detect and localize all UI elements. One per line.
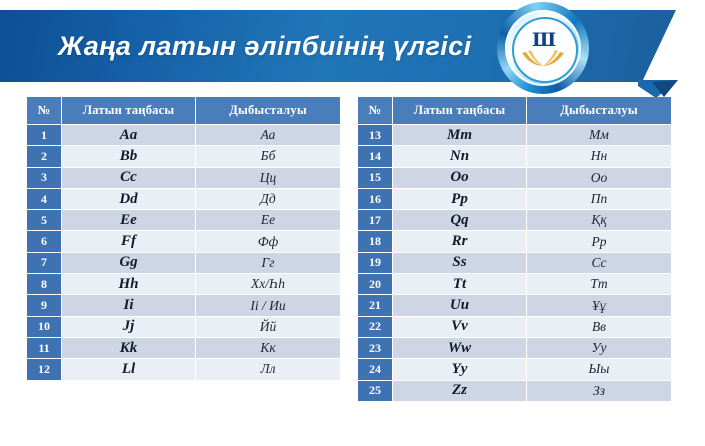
column-header-number: № [358,97,392,124]
cell-cyrillic-sound: Цц [196,168,340,188]
cell-number: 21 [358,295,392,315]
cell-cyrillic-sound: Мм [527,125,671,145]
cell-latin-letter: Bb [62,146,195,166]
cell-number: 24 [358,359,392,379]
right-table-body: 13MmМм14NnНн15OoОо16PpПп17QqҚқ18RrРр19Ss… [358,125,671,401]
alphabet-table-left: № Латын таңбасы Дыбысталуы 1AaАа2BbБб3Cc… [26,96,341,381]
cell-number: 13 [358,125,392,145]
cell-cyrillic-sound: Зз [527,381,671,401]
table-row: 1AaАа [27,125,340,145]
cell-cyrillic-sound: Ее [196,210,340,230]
cell-number: 16 [358,189,392,209]
cell-number: 6 [27,231,61,251]
table-row: 25ZzЗз [358,381,671,401]
cell-latin-letter: Jj [62,317,195,337]
table-row: 8HhХх/Һһ [27,274,340,294]
cell-latin-letter: Qq [393,210,526,230]
cell-number: 22 [358,317,392,337]
cell-latin-letter: Pp [393,189,526,209]
cell-latin-letter: Ww [393,338,526,358]
table-row: 16PpПп [358,189,671,209]
table-row: 5EeЕе [27,210,340,230]
column-header-sound: Дыбысталуы [196,97,340,124]
cell-latin-letter: Uu [393,295,526,315]
table-row: 17QqҚқ [358,210,671,230]
cell-cyrillic-sound: Хх/Һһ [196,274,340,294]
table-row: 23WwУу [358,338,671,358]
table-row: 13MmМм [358,125,671,145]
table-row: 24YyЫы [358,359,671,379]
table-row: 3CcЦц [27,168,340,188]
cell-number: 3 [27,168,61,188]
institute-logo: Ш [497,2,589,94]
table-row: 20TtТт [358,274,671,294]
cell-cyrillic-sound: Ұұ [527,295,671,315]
cell-number: 23 [358,338,392,358]
cell-number: 19 [358,253,392,273]
cell-latin-letter: Rr [393,231,526,251]
cell-cyrillic-sound: Фф [196,231,340,251]
cell-latin-letter: Mm [393,125,526,145]
cell-number: 1 [27,125,61,145]
cell-latin-letter: Ee [62,210,195,230]
cell-cyrillic-sound: Вв [527,317,671,337]
table-row: 18RrРр [358,231,671,251]
cell-cyrillic-sound: Ыы [527,359,671,379]
cell-cyrillic-sound: Сс [527,253,671,273]
cell-cyrillic-sound: Пп [527,189,671,209]
table-row: 11KkКк [27,338,340,358]
alphabet-table-right: № Латын таңбасы Дыбысталуы 13MmМм14NnНн1… [357,96,672,402]
cell-cyrillic-sound: Оо [527,168,671,188]
cell-latin-letter: Aa [62,125,195,145]
cell-number: 11 [27,338,61,358]
cell-latin-letter: Ss [393,253,526,273]
cell-latin-letter: Ll [62,359,195,379]
cell-cyrillic-sound: Кк [196,338,340,358]
cell-number: 8 [27,274,61,294]
alphabet-tables: № Латын таңбасы Дыбысталуы 1AaАа2BbБб3Cc… [0,96,705,446]
cell-cyrillic-sound: Дд [196,189,340,209]
table-header-row: № Латын таңбасы Дыбысталуы [358,97,671,124]
table-row: 4DdДд [27,189,340,209]
cell-cyrillic-sound: Йй [196,317,340,337]
title-banner: Жаңа латын әліпбиінің үлгісі Ш [0,0,705,96]
cell-number: 10 [27,317,61,337]
cell-latin-letter: Zz [393,381,526,401]
cell-number: 2 [27,146,61,166]
cell-number: 25 [358,381,392,401]
table-row: 21UuҰұ [358,295,671,315]
cell-number: 14 [358,146,392,166]
cell-latin-letter: Kk [62,338,195,358]
cell-cyrillic-sound: Рр [527,231,671,251]
page-title: Жаңа латын әліпбиінің үлгісі [58,22,488,70]
table-row: 10JjЙй [27,317,340,337]
cell-number: 9 [27,295,61,315]
table-row: 14NnНн [358,146,671,166]
cell-number: 17 [358,210,392,230]
table-row: 9IiІі / Ии [27,295,340,315]
cell-cyrillic-sound: Лл [196,359,340,379]
cell-latin-letter: Ii [62,295,195,315]
cell-number: 7 [27,253,61,273]
cell-number: 15 [358,168,392,188]
column-header-sound: Дыбысталуы [527,97,671,124]
cell-latin-letter: Nn [393,146,526,166]
cell-number: 5 [27,210,61,230]
cell-latin-letter: Yy [393,359,526,379]
column-header-latin: Латын таңбасы [393,97,526,124]
column-header-number: № [27,97,61,124]
cell-number: 18 [358,231,392,251]
table-row: 22VvВв [358,317,671,337]
left-table-body: 1AaАа2BbБб3CcЦц4DdДд5EeЕе6FfФф7GgГг8HhХх… [27,125,340,380]
cell-latin-letter: Vv [393,317,526,337]
logo-center-disc: Ш [516,21,570,75]
cell-cyrillic-sound: Іі / Ии [196,295,340,315]
cell-cyrillic-sound: Уу [527,338,671,358]
cell-number: 4 [27,189,61,209]
table-row: 7GgГг [27,253,340,273]
cell-number: 20 [358,274,392,294]
cell-latin-letter: Hh [62,274,195,294]
cell-latin-letter: Tt [393,274,526,294]
logo-wings-icon [520,49,566,69]
cell-cyrillic-sound: Тт [527,274,671,294]
cell-cyrillic-sound: Аа [196,125,340,145]
table-row: 6FfФф [27,231,340,251]
table-row: 12LlЛл [27,359,340,379]
cell-cyrillic-sound: Нн [527,146,671,166]
cell-latin-letter: Dd [62,189,195,209]
table-row: 2BbБб [27,146,340,166]
cell-latin-letter: Ff [62,231,195,251]
cell-cyrillic-sound: Бб [196,146,340,166]
cell-latin-letter: Cc [62,168,195,188]
cell-cyrillic-sound: Ққ [527,210,671,230]
cell-number: 12 [27,359,61,379]
cell-cyrillic-sound: Гг [196,253,340,273]
cell-latin-letter: Oo [393,168,526,188]
table-row: 15OoОо [358,168,671,188]
table-row: 19SsСс [358,253,671,273]
column-header-latin: Латын таңбасы [62,97,195,124]
cell-latin-letter: Gg [62,253,195,273]
table-header-row: № Латын таңбасы Дыбысталуы [27,97,340,124]
